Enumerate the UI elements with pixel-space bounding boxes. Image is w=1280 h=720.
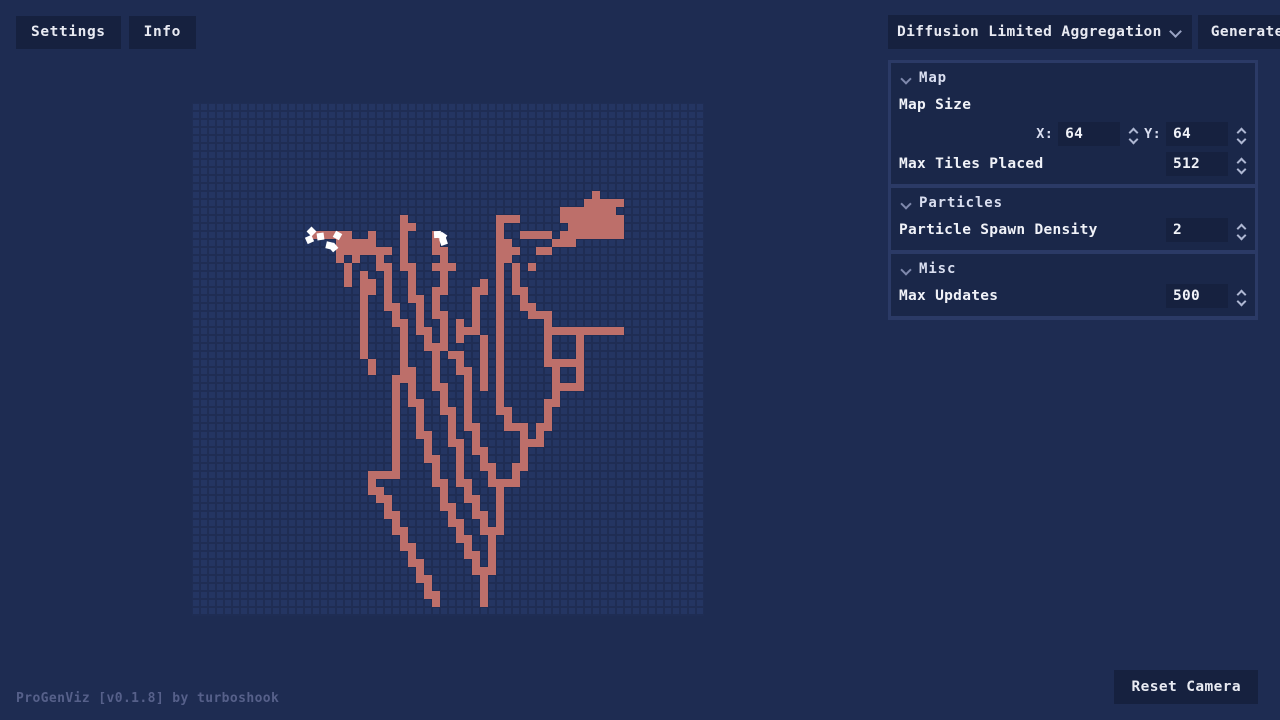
chevron-up-icon[interactable]: [1237, 157, 1246, 162]
tile-grid[interactable]: [192, 103, 704, 616]
particle-spawn-density-value: 2: [1173, 222, 1182, 238]
map-size-x-stepper[interactable]: [1124, 121, 1142, 147]
chevron-down-icon[interactable]: [1237, 166, 1246, 171]
chevron-down-icon: [901, 266, 912, 273]
map-size-y-value: 64: [1173, 126, 1191, 142]
row-map-size-label: Map Size: [891, 90, 1255, 119]
section-header-misc[interactable]: Misc: [891, 258, 1255, 281]
reset-camera-button[interactable]: Reset Camera: [1114, 670, 1258, 704]
row-max-tiles-placed: Max Tiles Placed 512: [891, 149, 1255, 178]
walking-particles-layer: [192, 103, 704, 616]
max-tiles-placed-label: Max Tiles Placed: [899, 156, 1043, 172]
chevron-up-icon[interactable]: [1237, 127, 1246, 132]
chevron-down-icon[interactable]: [1129, 136, 1138, 141]
max-tiles-placed-stepper[interactable]: [1232, 151, 1250, 177]
row-map-size-fields: X: 64 Y: 64: [891, 119, 1255, 149]
walking-particle: [329, 242, 339, 252]
chevron-down-icon[interactable]: [1237, 232, 1246, 237]
map-size-x-group: X: 64: [1036, 121, 1144, 147]
info-button[interactable]: Info: [129, 16, 196, 49]
section-title-particles: Particles: [919, 195, 1003, 211]
section-misc: Misc Max Updates 500: [891, 254, 1255, 316]
chevron-down-icon[interactable]: [1237, 298, 1246, 303]
section-title-map: Map: [919, 70, 947, 86]
section-particles: Particles Particle Spawn Density 2: [891, 188, 1255, 250]
map-size-y-input[interactable]: 64: [1166, 122, 1228, 146]
max-updates-stepper[interactable]: [1232, 283, 1250, 309]
map-size-x-label: X:: [1036, 126, 1053, 142]
chevron-down-icon[interactable]: [1237, 136, 1246, 141]
app-version-credit: ProGenViz [v0.1.8] by turboshook: [16, 691, 279, 706]
map-size-x-value: 64: [1065, 126, 1083, 142]
walking-particle: [316, 232, 324, 240]
canvas-viewport[interactable]: [0, 0, 880, 720]
map-size-label: Map Size: [899, 97, 971, 113]
map-size-x-input[interactable]: 64: [1058, 122, 1120, 146]
control-panel: Diffusion Limited Aggregation Generate M…: [888, 15, 1258, 320]
top-toolbar: Settings Info: [16, 16, 196, 49]
algorithm-select-value: Diffusion Limited Aggregation: [897, 24, 1162, 40]
section-map: Map Map Size X: 64 Y:: [891, 63, 1255, 184]
map-size-y-label: Y:: [1144, 126, 1161, 142]
max-updates-input[interactable]: 500: [1166, 284, 1228, 308]
max-tiles-placed-value: 512: [1173, 156, 1200, 172]
row-max-updates: Max Updates 500: [891, 281, 1255, 310]
walking-particle: [304, 235, 313, 244]
chevron-down-icon: [901, 75, 912, 82]
row-particle-spawn-density: Particle Spawn Density 2: [891, 215, 1255, 244]
generator-row: Diffusion Limited Aggregation Generate: [888, 15, 1258, 49]
settings-button[interactable]: Settings: [16, 16, 121, 49]
section-title-misc: Misc: [919, 261, 956, 277]
walking-particle: [439, 237, 448, 246]
walking-particle: [333, 231, 343, 241]
max-tiles-placed-input[interactable]: 512: [1166, 152, 1228, 176]
chevron-down-icon: [901, 200, 912, 207]
particle-spawn-density-input[interactable]: 2: [1166, 218, 1228, 242]
particle-spawn-density-label: Particle Spawn Density: [899, 222, 1098, 238]
section-header-map[interactable]: Map: [891, 67, 1255, 90]
section-header-particles[interactable]: Particles: [891, 192, 1255, 215]
map-size-y-stepper[interactable]: [1232, 121, 1250, 147]
generate-button[interactable]: Generate: [1198, 15, 1280, 49]
chevron-up-icon[interactable]: [1129, 127, 1138, 132]
chevron-up-icon[interactable]: [1237, 289, 1246, 294]
parameter-sections: Map Map Size X: 64 Y:: [888, 60, 1258, 320]
algorithm-select[interactable]: Diffusion Limited Aggregation: [888, 15, 1192, 49]
max-updates-label: Max Updates: [899, 288, 998, 304]
chevron-down-icon: [1170, 27, 1181, 34]
max-updates-value: 500: [1173, 288, 1200, 304]
map-size-y-group: Y: 64: [1144, 121, 1252, 147]
particle-spawn-density-stepper[interactable]: [1232, 217, 1250, 243]
chevron-up-icon[interactable]: [1237, 223, 1246, 228]
